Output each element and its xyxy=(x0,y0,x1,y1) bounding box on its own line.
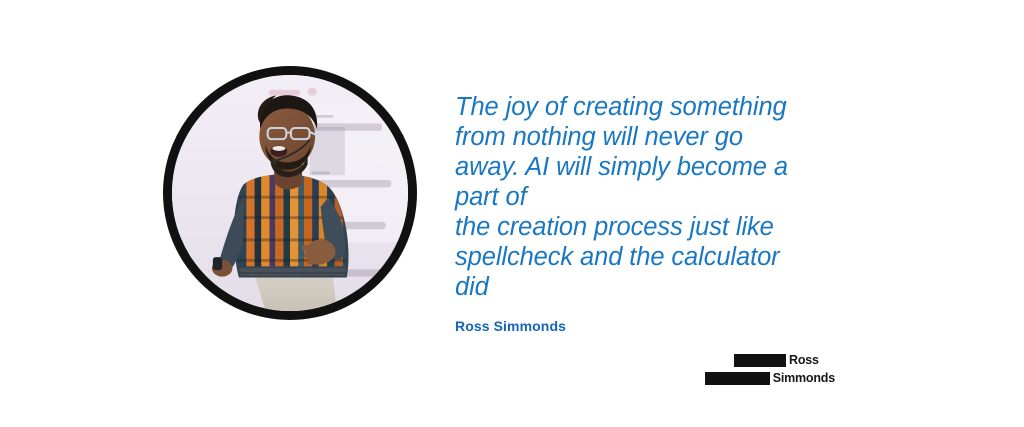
quote-line: The joy of creating something xyxy=(455,92,855,122)
quote-line: the creation process just like xyxy=(455,212,855,242)
logo-bar-icon xyxy=(705,372,770,385)
quote-line: did xyxy=(455,272,855,302)
portrait-photo xyxy=(172,75,408,311)
ross-simmonds-logo: Ross Simmonds xyxy=(705,353,835,391)
quote-author: Ross Simmonds xyxy=(455,318,566,334)
quote-line: spellcheck and the calculator xyxy=(455,242,855,272)
quote-line: away. AI will simply become a xyxy=(455,152,855,182)
logo-row-bottom: Simmonds xyxy=(705,371,835,386)
quote-slide: The joy of creating something from nothi… xyxy=(0,0,1024,427)
speaker-photo-illustration xyxy=(172,75,408,311)
logo-bar-icon xyxy=(734,354,786,367)
logo-text-line2: Simmonds xyxy=(773,372,835,385)
quote-line: from nothing will never go xyxy=(455,122,855,152)
logo-row-top: Ross xyxy=(705,353,835,368)
portrait-ring xyxy=(163,66,417,320)
logo-text-line1: Ross xyxy=(789,354,819,367)
quote-line: part of xyxy=(455,182,855,212)
quote-text: The joy of creating something from nothi… xyxy=(455,92,855,302)
